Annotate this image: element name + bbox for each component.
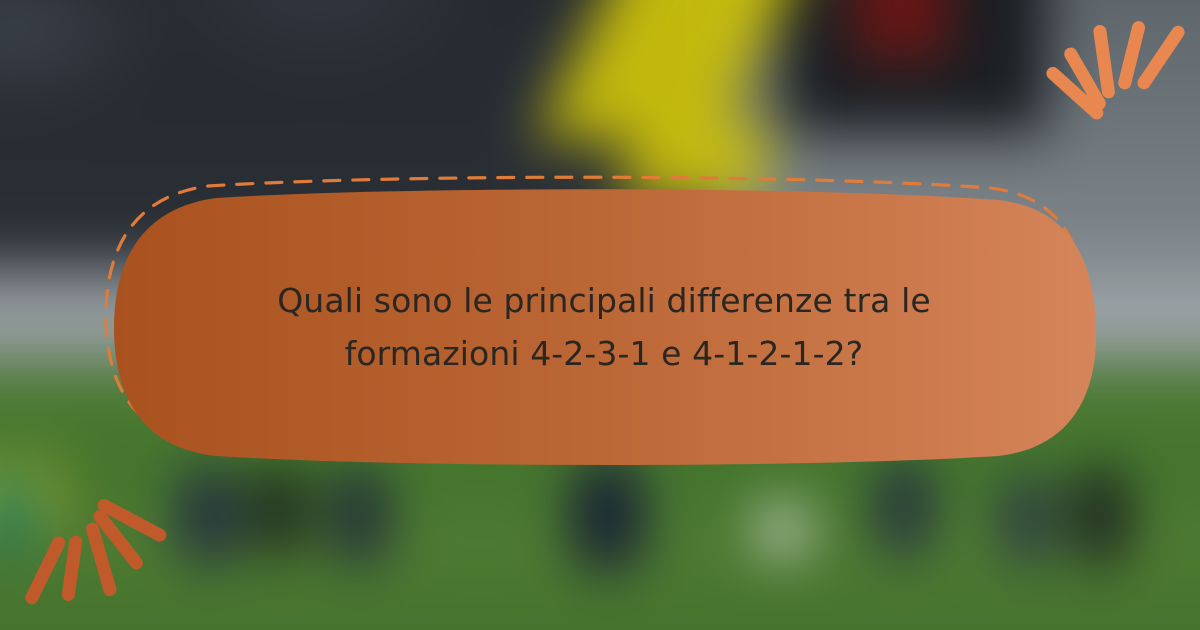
question-line-1: Quali sono le principali differenze tra … (277, 274, 931, 327)
share-card-canvas: Quali sono le principali differenze tra … (0, 0, 1200, 630)
question-card: Quali sono le principali differenze tra … (100, 178, 1092, 452)
question-text: Quali sono le principali differenze tra … (108, 190, 1100, 464)
blurred-player (880, 458, 928, 553)
blurred-player (334, 466, 384, 561)
blurred-player (180, 466, 236, 561)
blurred-player (1006, 474, 1048, 561)
question-line-2: formazioni 4-2-3-1 e 4-1-2-1-2? (345, 327, 864, 380)
blurred-player (1076, 466, 1126, 561)
stadium-red-smudge (852, 0, 950, 61)
blurred-player (572, 458, 642, 569)
blurred-player (0, 474, 36, 546)
blurred-player (257, 466, 302, 553)
football-ball (761, 506, 804, 555)
